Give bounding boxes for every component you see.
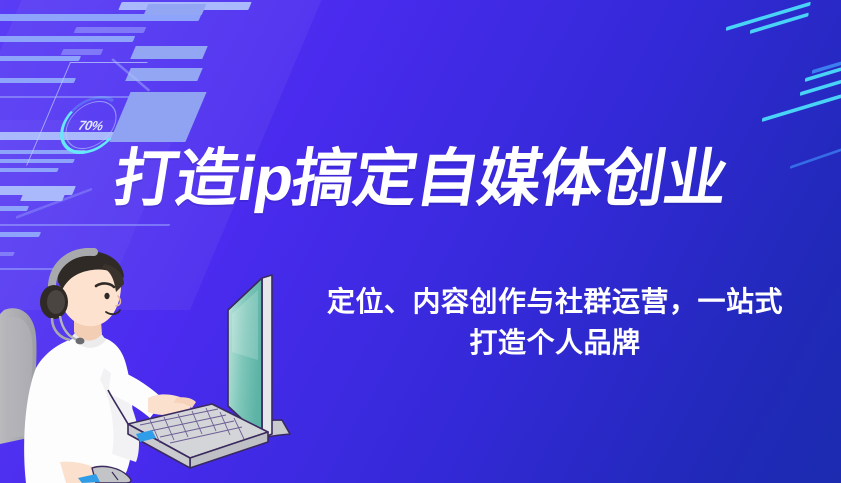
deco-stripe [0, 36, 135, 42]
progress-ring-inner [64, 95, 119, 154]
illustration-person-at-computer [0, 248, 300, 483]
deco-accent-cyan [762, 89, 841, 122]
deco-accent-cyan [800, 78, 841, 95]
deco-rail [0, 224, 170, 226]
deco-stripe [74, 27, 147, 33]
deco-rail [0, 96, 165, 98]
deco-accent-blue [812, 57, 841, 74]
banner-title: 打造ip搞定自媒体创业 [0, 148, 841, 211]
deco-accent-cyan [726, 2, 811, 31]
deco-frame-edge [111, 58, 150, 91]
deco-accent-cyan [750, 13, 809, 34]
deco-card [125, 68, 203, 81]
progress-ring-label: 70% [51, 95, 131, 155]
deco-stripe [0, 14, 201, 21]
deco-card [109, 92, 206, 142]
deco-stripe [0, 232, 41, 237]
deco-stripe [0, 78, 76, 83]
deco-accent-cyan [805, 61, 841, 82]
deco-stripe [0, 132, 122, 140]
banner-subtitle-line-1: 定位、内容创作与社群运营，一站式 [285, 282, 825, 323]
deco-stripe [118, 2, 251, 10]
deco-stripe [0, 56, 81, 61]
banner-subtitle-line-2: 打造个人品牌 [285, 323, 825, 364]
banner-subtitle: 定位、内容创作与社群运营，一站式 打造个人品牌 [285, 282, 825, 363]
deco-card [130, 46, 208, 59]
deco-card [144, 4, 207, 15]
deco-stripe [61, 49, 104, 55]
course-cover-banner: 70% 打造ip搞定自媒体创业 定位、内容创作与社群运营，一站式 打造个人品牌 [0, 0, 841, 483]
